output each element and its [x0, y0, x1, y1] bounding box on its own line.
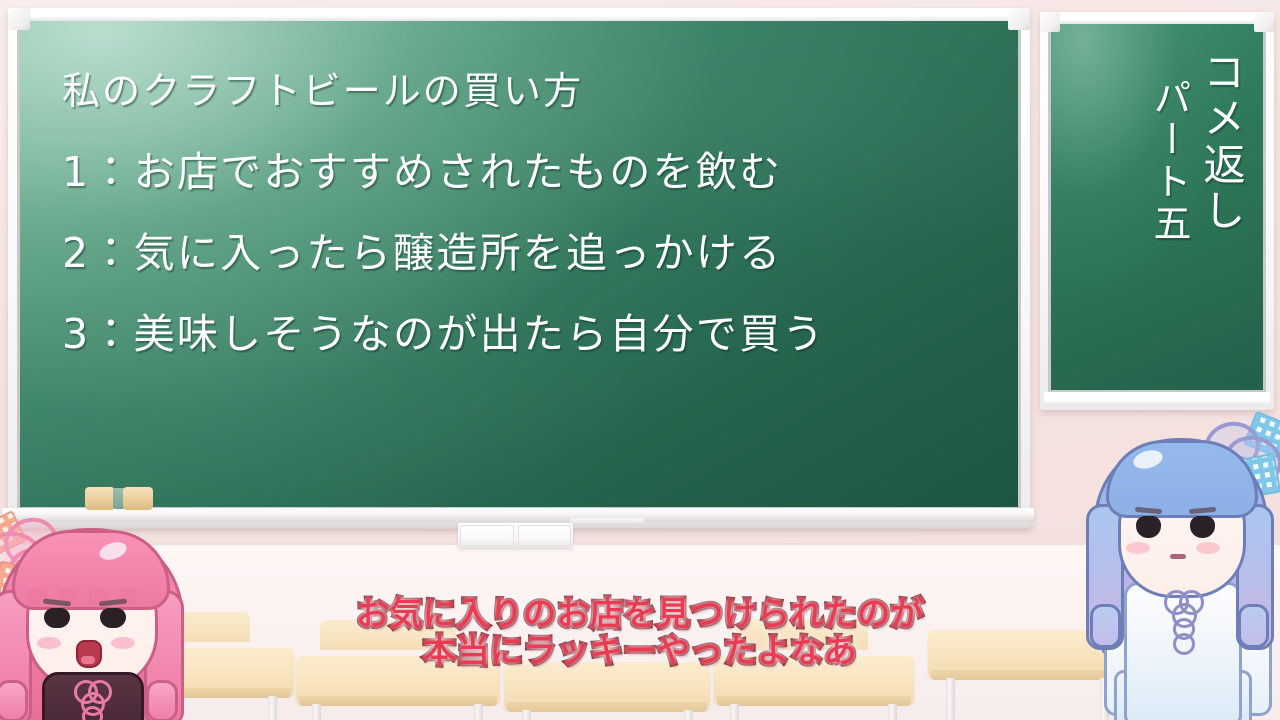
blackboard-eraser-icon[interactable]	[85, 487, 155, 510]
desk-leg	[684, 710, 693, 720]
akane-collar-knot-icon	[74, 680, 108, 720]
light-switch-right[interactable]	[518, 525, 572, 546]
aoi-eye-left	[1136, 516, 1161, 538]
desk-leg	[268, 696, 277, 720]
aoi-blush-left	[1126, 542, 1150, 554]
desk-leg	[730, 704, 739, 720]
board-list-item-2: 2：気に入ったら醸造所を追っかける	[62, 233, 962, 274]
character-aoi	[1078, 424, 1280, 720]
eraser-felt-right	[123, 487, 153, 510]
board-list-item-1: 1：お店でおすすめされたものを飲む	[62, 152, 962, 193]
desk-lip	[717, 696, 911, 706]
main-blackboard-corner	[8, 8, 30, 30]
side-blackboard-bottom-rail	[1044, 392, 1270, 406]
subtitle-line-2: 本当にラッキーやったよなあ	[0, 633, 1280, 670]
subtitle-line-1: お気に入りのお店を見つけられたのが	[0, 596, 1280, 633]
light-switch-panel[interactable]	[458, 523, 573, 548]
light-switch-left[interactable]	[460, 525, 514, 546]
side-blackboard-top-rail	[1046, 14, 1268, 24]
desk-leg	[312, 704, 321, 720]
akane-hair-tie-right	[146, 680, 178, 720]
main-blackboard-text: 私のクラフトビールの買い方 1：お店でおすすめされたものを飲む 2：気に入ったら…	[62, 72, 962, 395]
subtitle-caption: お気に入りのお店を見つけられたのが 本当にラッキーやったよなあ	[0, 596, 1280, 670]
desk-leg	[474, 704, 483, 720]
desk-leg	[946, 678, 955, 720]
side-blackboard-text: コメ返し パート五	[1051, 24, 1263, 390]
akane-knot-ring	[82, 706, 103, 720]
aoi-blush-right	[1196, 542, 1220, 554]
board-list-item-3: 3：美味しそうなのが出たら自分で買う	[62, 314, 962, 355]
desk-leg	[888, 704, 897, 720]
akane-hair-tie-left	[0, 680, 28, 720]
chalk-stick-icon[interactable]	[570, 518, 644, 523]
aoi-mouth	[1170, 554, 1186, 559]
side-board-column-main: コメ返し	[1198, 50, 1245, 235]
board-title: 私のクラフトビールの買い方	[62, 72, 962, 110]
aoi-bang-spike	[1153, 497, 1171, 518]
main-blackboard-top-rail	[14, 10, 1024, 21]
desk-lip	[507, 702, 707, 712]
side-board-column-sub: パート五	[1147, 78, 1190, 245]
desk-lip	[299, 696, 497, 706]
aoi-bangs	[1106, 440, 1258, 518]
main-blackboard-corner	[1008, 8, 1030, 30]
aoi-eye-right	[1190, 516, 1215, 538]
desk-leg	[522, 710, 531, 720]
screenshot-stage: 私のクラフトビールの買い方 1：お店でおすすめされたものを飲む 2：気に入ったら…	[0, 0, 1280, 720]
eraser-felt-left	[85, 487, 115, 510]
